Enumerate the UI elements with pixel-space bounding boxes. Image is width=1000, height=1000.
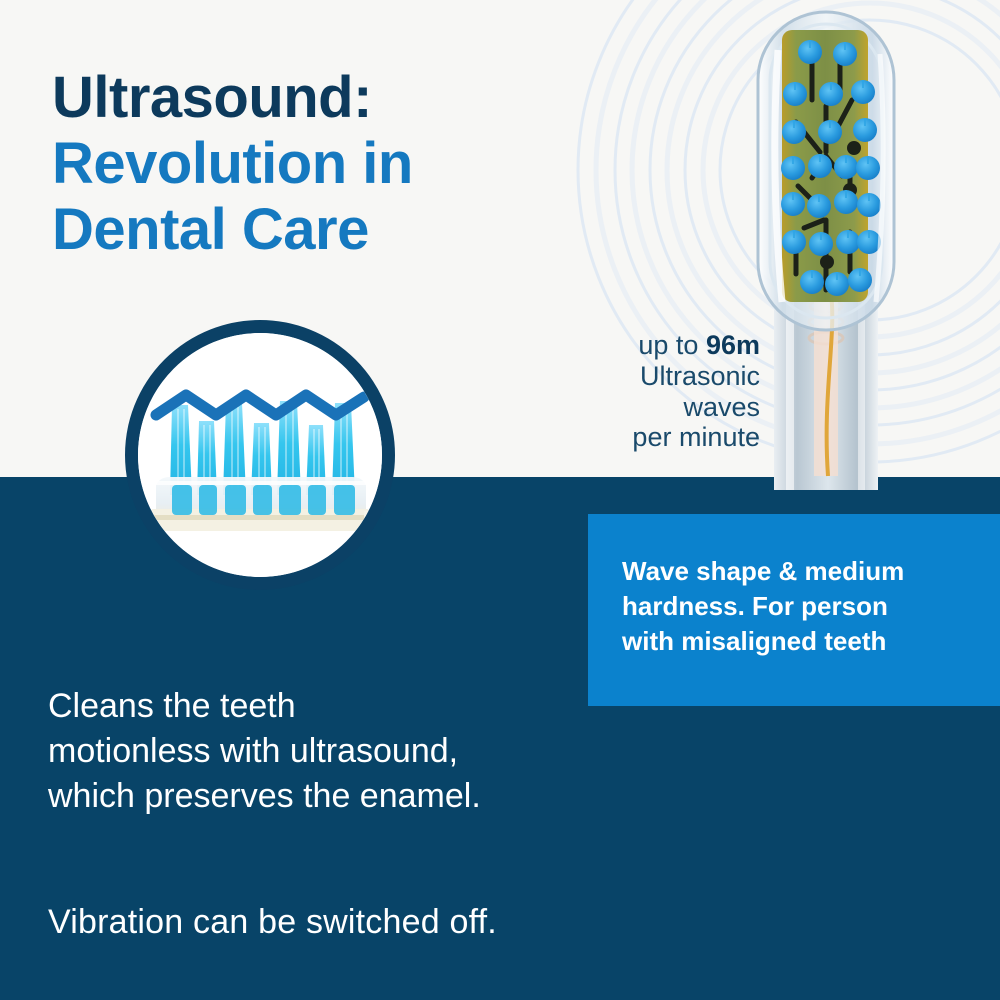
caption-line-4: per minute — [560, 422, 760, 453]
bristle-closeup-inset — [125, 320, 395, 590]
headline-line-1: Ultrasound: — [52, 65, 572, 131]
infographic-poster: Ultrasound: Revolution in Dental Care up… — [0, 0, 1000, 1000]
caption-line-2: Ultrasonic — [560, 361, 760, 392]
callout-line-2: hardness. For person — [622, 589, 982, 624]
ultrasonic-frequency-caption: up to 96m Ultrasonic waves per minute — [560, 330, 760, 453]
caption-line-1: up to 96m — [560, 330, 760, 361]
caption-line-3: waves — [560, 392, 760, 423]
caption-value: 96m — [706, 330, 760, 360]
body-line-2: motionless with ultrasound, — [48, 729, 668, 774]
body-line-1: Cleans the teeth — [48, 684, 668, 729]
callout-text: Wave shape & medium hardness. For person… — [622, 554, 982, 658]
callout-line-1: Wave shape & medium — [622, 554, 982, 589]
caption-prefix: up to — [638, 330, 706, 360]
headline-line-3: Dental Care — [52, 197, 572, 263]
footnote-text: Vibration can be switched off. — [48, 903, 688, 942]
circle-frame — [125, 320, 395, 590]
body-line-3: which preserves the enamel. — [48, 774, 668, 819]
page-title: Ultrasound: Revolution in Dental Care — [52, 65, 572, 263]
body-copy: Cleans the teeth motionless with ultraso… — [48, 684, 668, 820]
callout-line-3: with misaligned teeth — [622, 624, 982, 659]
callout-box: Wave shape & medium hardness. For person… — [588, 514, 1000, 706]
headline-line-2: Revolution in — [52, 131, 572, 197]
